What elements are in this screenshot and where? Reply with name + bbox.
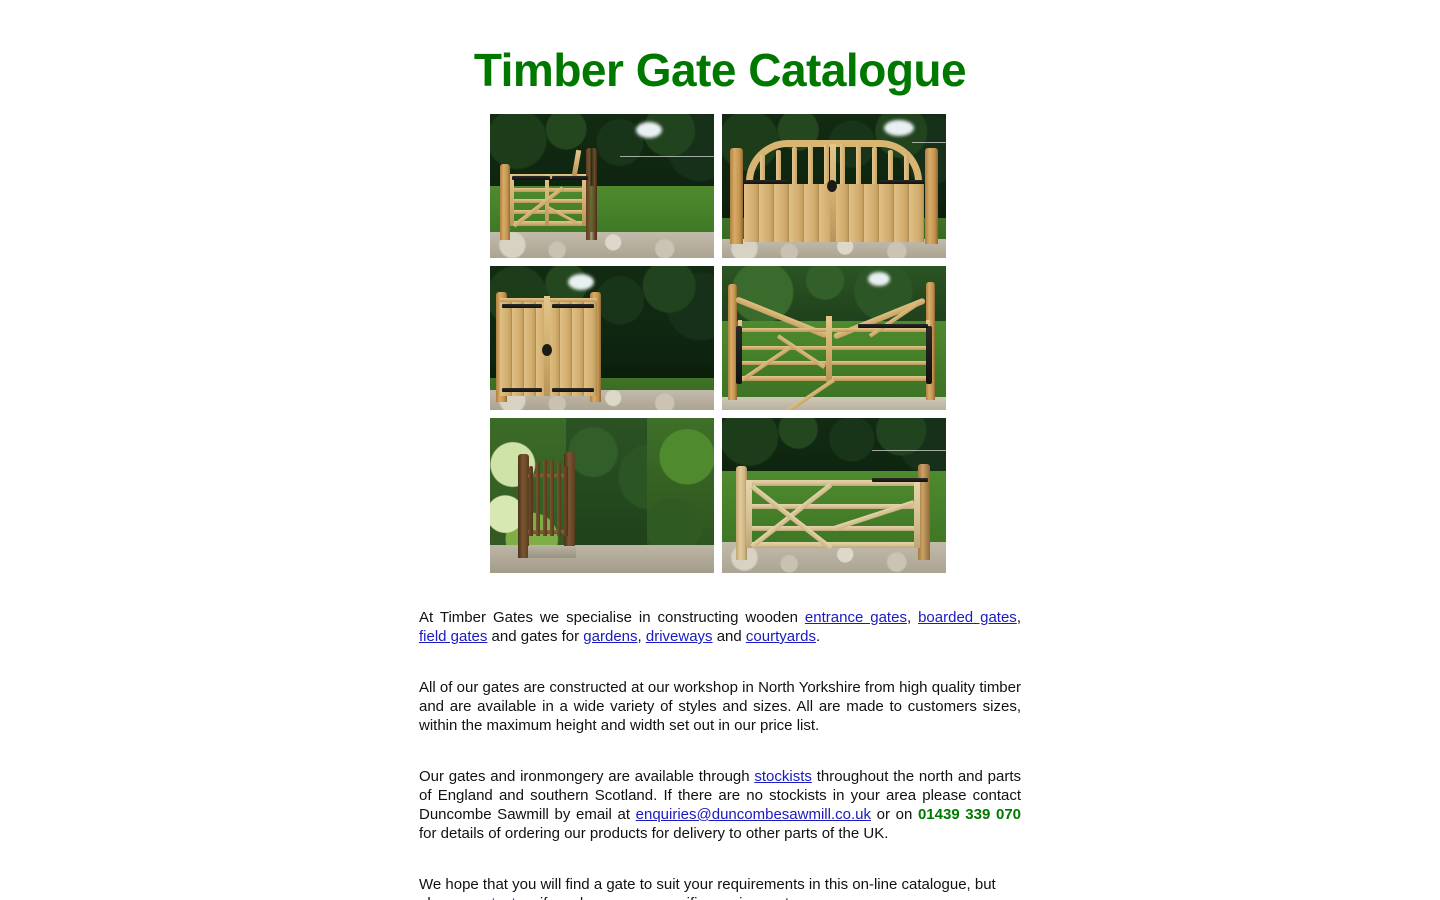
gallery-row [490, 114, 947, 258]
gate-meeting-stile [830, 144, 836, 242]
scene-sky-gap [884, 120, 914, 136]
photo-entrance-gates-spindle-top[interactable] [722, 114, 946, 258]
gate-paling [557, 462, 561, 536]
strap-hinge [552, 388, 594, 392]
scene-wire [912, 142, 946, 143]
link-driveways[interactable]: driveways [646, 628, 713, 645]
paragraph-closing: We hope that you will find a gate to sui… [419, 875, 1021, 900]
photo-garden-picket-gate[interactable] [490, 418, 714, 573]
body-text: Our gates and ironmongery are available … [419, 768, 754, 785]
gate-meeting-stile [826, 316, 832, 382]
body-text: or on [871, 806, 918, 823]
gate-post-left [730, 148, 743, 244]
gate-hanging-strap [736, 326, 742, 384]
gate-post-left [500, 164, 510, 240]
strap-hinge [744, 180, 788, 184]
link-enquiries-duncombesawmill-co-uk[interactable]: enquiries@duncombesawmill.co.uk [636, 806, 871, 823]
paragraph-stockists: Our gates and ironmongery are available … [419, 767, 1021, 843]
scene-step [528, 546, 576, 558]
photo-five-bar-field-gate[interactable] [722, 418, 946, 573]
gate-spindle [792, 147, 797, 186]
link-gardens[interactable]: gardens [583, 628, 637, 645]
link-courtyards[interactable]: courtyards [746, 628, 816, 645]
body-text: , [638, 628, 646, 645]
gate-spindle [840, 144, 845, 186]
photo-boarded-double-gates[interactable] [490, 266, 714, 410]
body-text: All of our gates are constructed at our … [419, 679, 1021, 734]
body-text: At Timber Gates we specialise in constru… [419, 609, 805, 626]
gate-spindle [856, 145, 861, 186]
body-text: for details of ordering our products for… [419, 825, 888, 842]
page-title: Timber Gate Catalogue [0, 45, 1440, 96]
scene-gravel [722, 239, 946, 258]
scene-wire [620, 156, 714, 157]
gate-spindle [808, 145, 813, 186]
gate-rail [738, 346, 930, 350]
strap-hinge [552, 304, 594, 308]
gate-stile [746, 480, 752, 548]
scene-sky-gap [868, 272, 890, 286]
strap-hinge [858, 324, 928, 328]
strap-hinge [880, 180, 924, 184]
photo-field-gate-braced[interactable] [490, 114, 714, 258]
link-stockists[interactable]: stockists [754, 768, 812, 785]
gate-paling [550, 459, 554, 536]
gate-post-right [925, 148, 938, 244]
link-boarded-gates[interactable]: boarded gates [918, 609, 1017, 626]
gate-spindle [824, 144, 829, 186]
gate-shaped-top [550, 298, 597, 302]
gate-latch-bar [872, 478, 928, 482]
body-text: , [907, 609, 918, 626]
page-content: At Timber Gates we specialise in constru… [419, 608, 1021, 900]
scene-path [722, 397, 946, 410]
gate-photo-gallery [490, 114, 947, 573]
photo-curved-field-gates[interactable] [722, 266, 946, 410]
body-text: . [816, 628, 820, 645]
gate-paling [564, 466, 568, 536]
gate-latch [542, 344, 552, 356]
body-text: if you have more specific requirements. [536, 895, 801, 900]
gate-hanging-strap [926, 326, 932, 384]
strap-hinge [502, 388, 542, 392]
paragraph-construction: All of our gates are constructed at our … [419, 678, 1021, 735]
gate-stile [582, 174, 586, 226]
gate-post-left [518, 454, 529, 558]
link-entrance-gates[interactable]: entrance gates [805, 609, 907, 626]
strap-hinge [502, 304, 542, 308]
gallery-row [490, 266, 947, 410]
paragraph-intro: At Timber Gates we specialise in constru… [419, 608, 1021, 646]
gate-shaped-top [500, 298, 544, 302]
gate-stile [510, 174, 514, 226]
scene-sky-gap [636, 122, 662, 138]
scene-gravel [490, 232, 714, 258]
gate-paling [529, 466, 533, 536]
gate-post-right [586, 148, 597, 240]
gate-paling [543, 459, 547, 536]
link-contact-us[interactable]: contact us [467, 895, 535, 900]
strap-hinge [552, 176, 588, 180]
gate-bottom-rail [746, 542, 920, 548]
body-text: and [713, 628, 746, 645]
body-text: , [1017, 609, 1021, 626]
gate-rail [738, 328, 930, 332]
gate-paling [536, 462, 540, 536]
page-root: Timber Gate Catalogue [0, 0, 1440, 900]
gate-spindle [872, 147, 877, 186]
scene-wire [872, 450, 946, 451]
strap-hinge [512, 176, 550, 180]
scene-sky-gap [568, 274, 594, 290]
gallery-row [490, 418, 947, 573]
link-field-gates[interactable]: field gates [419, 628, 487, 645]
body-text: and gates for [487, 628, 583, 645]
gate-stile [914, 480, 920, 548]
gate-latch [827, 180, 837, 192]
phone-number: 01439 339 070 [918, 806, 1021, 823]
